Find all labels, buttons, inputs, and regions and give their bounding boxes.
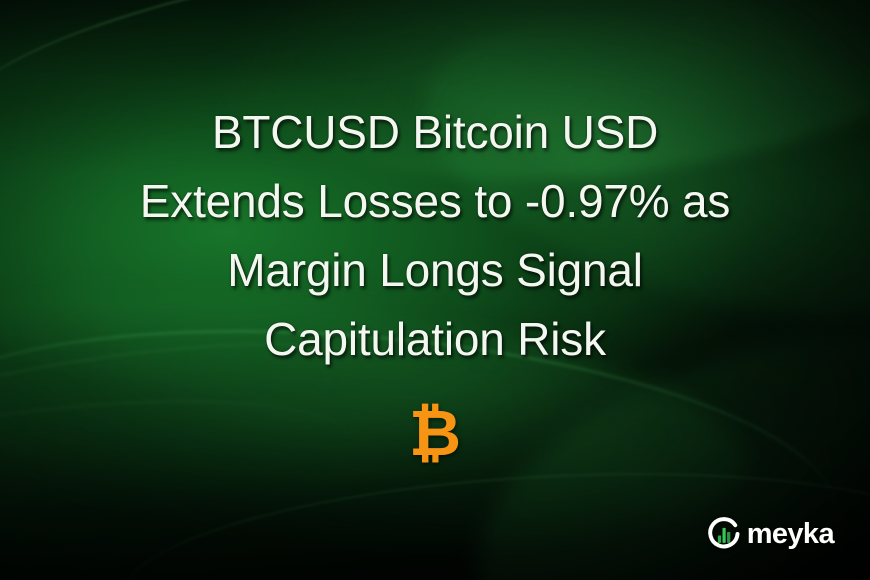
brand-logo: meyka: [706, 516, 834, 552]
brand-name: meyka: [747, 519, 834, 549]
bitcoin-icon: ₿: [0, 398, 870, 470]
headline-line-1: BTCUSD Bitcoin USD: [26, 98, 844, 167]
news-banner-card: BTCUSD Bitcoin USD Extends Losses to -0.…: [0, 0, 870, 580]
headline-line-3: Margin Longs Signal: [26, 236, 844, 305]
headline-line-2: Extends Losses to -0.97% as: [26, 167, 844, 236]
meyka-circle-bars-logo-icon: [706, 516, 742, 552]
headline-line-4: Capitulation Risk: [26, 305, 844, 374]
headline: BTCUSD Bitcoin USD Extends Losses to -0.…: [0, 98, 870, 374]
